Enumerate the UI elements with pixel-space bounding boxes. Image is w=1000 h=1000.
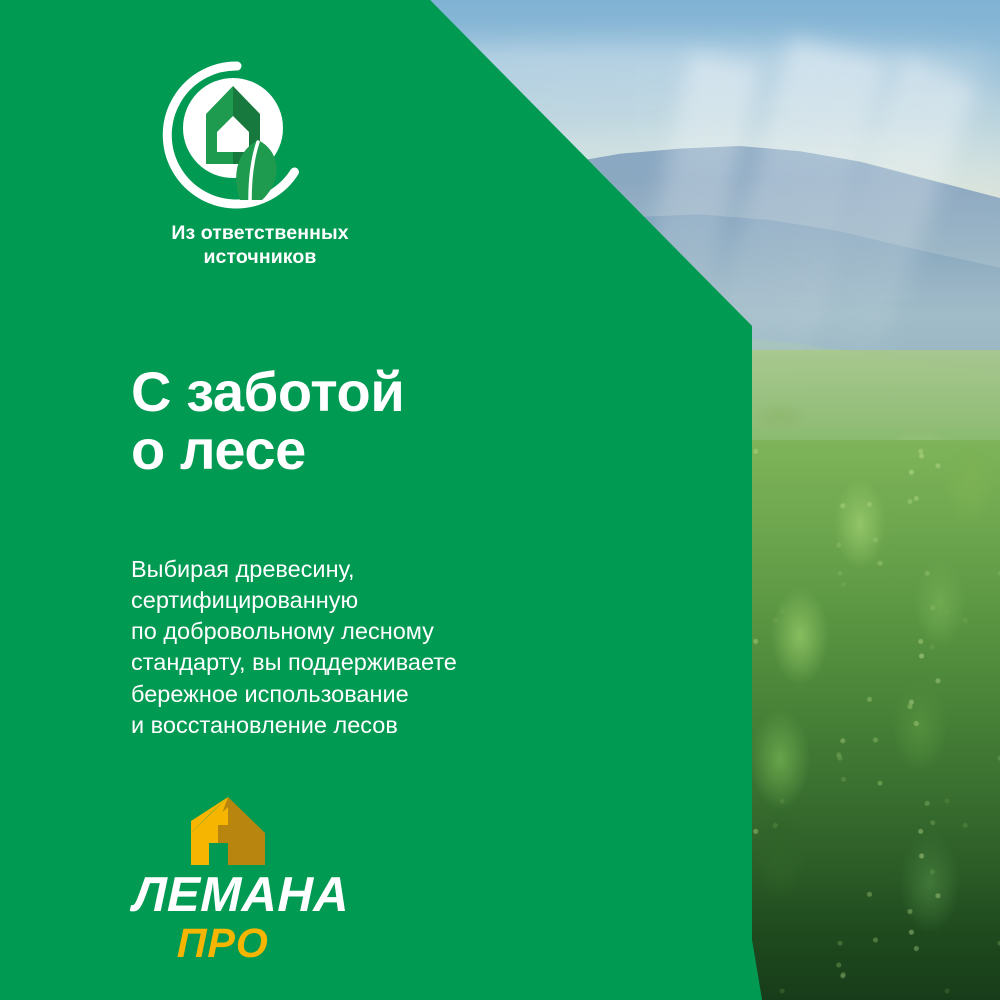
responsible-sources-badge: Из ответственных источников	[130, 60, 430, 270]
body-paragraph: Выбирая древесину, сертифицированную по …	[131, 554, 457, 742]
responsible-sources-seal-icon	[162, 60, 312, 210]
brand-suffix: ПРО	[177, 923, 364, 964]
responsible-sources-caption: Из ответственных источников	[130, 222, 390, 270]
brand-lockup: ЛЕМАНА ПРО	[133, 795, 363, 964]
brand-name: ЛЕМАНА	[133, 871, 364, 920]
poster-canvas: Из ответственных источников С заботой о …	[0, 0, 1000, 1000]
lemana-house-icon	[185, 795, 271, 867]
page-title: С заботой о лесе	[131, 363, 404, 479]
poster-content: Из ответственных источников С заботой о …	[0, 0, 1000, 1000]
